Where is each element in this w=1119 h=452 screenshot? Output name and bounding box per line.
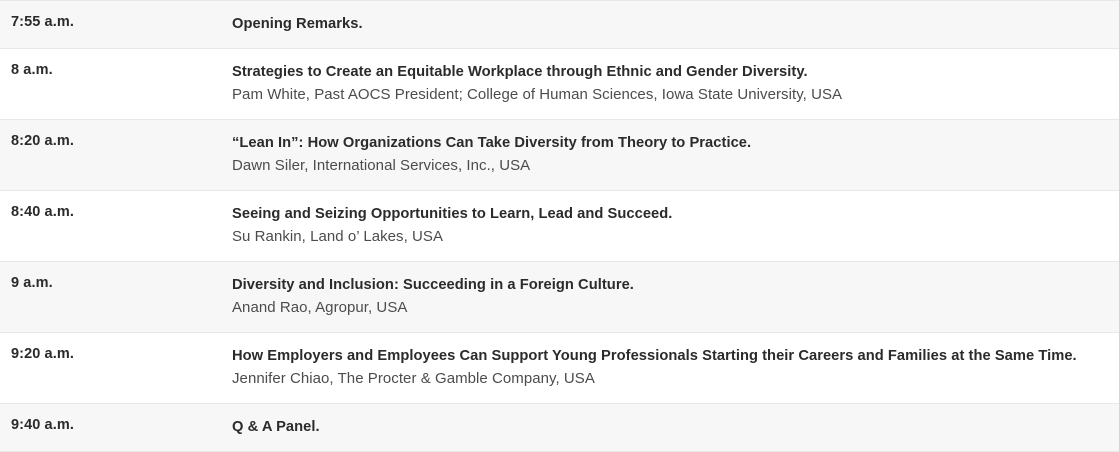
session-detail-cell: Opening Remarks. (232, 1, 1119, 49)
table-row: 8 a.m.Strategies to Create an Equitable … (0, 49, 1119, 120)
session-time-label: 8:40 a.m. (11, 203, 222, 221)
session-detail-cell: Strategies to Create an Equitable Workpl… (232, 49, 1119, 120)
session-time-cell: 8:40 a.m. (0, 191, 232, 262)
session-title: Opening Remarks. (232, 13, 1105, 35)
session-title: Q & A Panel. (232, 416, 1105, 438)
table-row: 9 a.m.Diversity and Inclusion: Succeedin… (0, 262, 1119, 333)
session-time-cell: 9 a.m. (0, 262, 232, 333)
session-time-cell: 9:40 a.m. (0, 404, 232, 452)
session-detail-cell: Q & A Panel. (232, 404, 1119, 452)
table-row: 9:40 a.m.Q & A Panel. (0, 404, 1119, 452)
session-speaker: Dawn Siler, International Services, Inc.… (232, 155, 1105, 177)
session-time-cell: 7:55 a.m. (0, 1, 232, 49)
session-title: Seeing and Seizing Opportunities to Lear… (232, 203, 1105, 225)
session-time-label: 8 a.m. (11, 61, 222, 79)
session-speaker: Jennifer Chiao, The Procter & Gamble Com… (232, 368, 1105, 390)
schedule-body: 7:55 a.m.Opening Remarks.8 a.m.Strategie… (0, 1, 1119, 452)
session-time-label: 8:20 a.m. (11, 132, 222, 150)
session-detail-cell: Diversity and Inclusion: Succeeding in a… (232, 262, 1119, 333)
table-row: 8:40 a.m.Seeing and Seizing Opportunitie… (0, 191, 1119, 262)
session-speaker: Pam White, Past AOCS President; College … (232, 84, 1105, 106)
session-title: Strategies to Create an Equitable Workpl… (232, 61, 1105, 83)
session-time-cell: 8:20 a.m. (0, 120, 232, 191)
session-detail-cell: How Employers and Employees Can Support … (232, 333, 1119, 404)
session-time-label: 9:20 a.m. (11, 345, 222, 363)
session-title: Diversity and Inclusion: Succeeding in a… (232, 274, 1105, 296)
session-time-label: 7:55 a.m. (11, 13, 222, 31)
table-row: 9:20 a.m.How Employers and Employees Can… (0, 333, 1119, 404)
session-speaker: Anand Rao, Agropur, USA (232, 297, 1105, 319)
table-row: 8:20 a.m.“Lean In”: How Organizations Ca… (0, 120, 1119, 191)
session-title: “Lean In”: How Organizations Can Take Di… (232, 132, 1105, 154)
session-time-label: 9 a.m. (11, 274, 222, 292)
session-time-label: 9:40 a.m. (11, 416, 222, 434)
session-detail-cell: Seeing and Seizing Opportunities to Lear… (232, 191, 1119, 262)
session-time-cell: 9:20 a.m. (0, 333, 232, 404)
session-detail-cell: “Lean In”: How Organizations Can Take Di… (232, 120, 1119, 191)
session-time-cell: 8 a.m. (0, 49, 232, 120)
session-schedule-table: 7:55 a.m.Opening Remarks.8 a.m.Strategie… (0, 0, 1119, 452)
table-row: 7:55 a.m.Opening Remarks. (0, 1, 1119, 49)
session-speaker: Su Rankin, Land o’ Lakes, USA (232, 226, 1105, 248)
session-title: How Employers and Employees Can Support … (232, 345, 1105, 367)
